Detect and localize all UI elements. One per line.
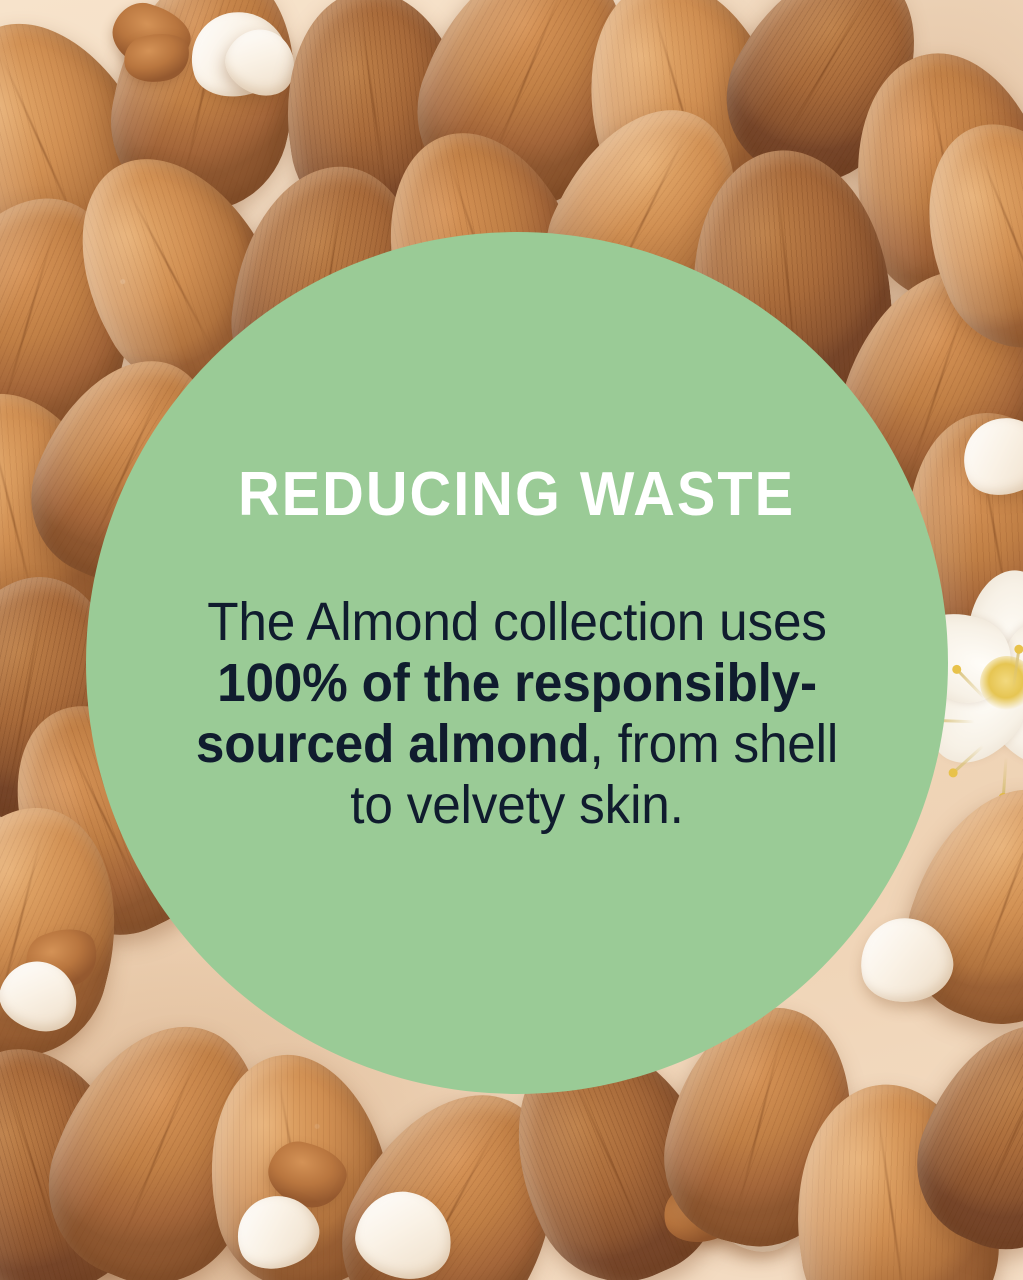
body-lead-text: The Almond collection uses <box>207 592 827 652</box>
blossom-stamen <box>1002 757 1008 797</box>
badge-headline: REDUCING WASTE <box>238 464 795 526</box>
green-circle-overlay: REDUCING WASTE The Almond collection use… <box>86 232 948 1094</box>
badge-body-text: The Almond collection uses 100% of the r… <box>178 592 856 836</box>
promo-image: REDUCING WASTE The Almond collection use… <box>0 0 1023 1280</box>
